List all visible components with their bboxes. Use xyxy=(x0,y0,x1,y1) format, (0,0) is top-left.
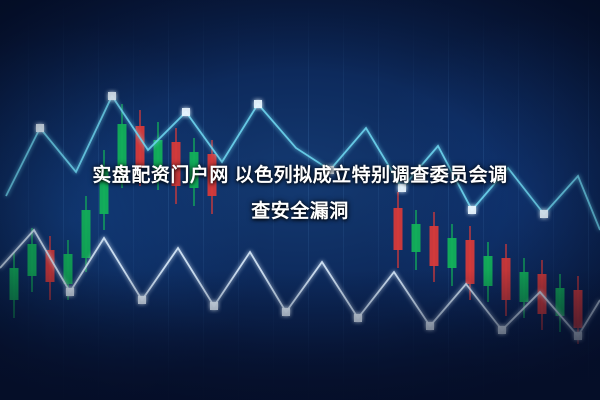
headline-text: 实盘配资门户网 以色列拟成立特别调查委员会调 查安全漏洞 xyxy=(0,158,600,230)
image-canvas: 实盘配资门户网 以色列拟成立特别调查委员会调 查安全漏洞 xyxy=(0,0,600,400)
background-bottom-fade xyxy=(0,270,600,400)
